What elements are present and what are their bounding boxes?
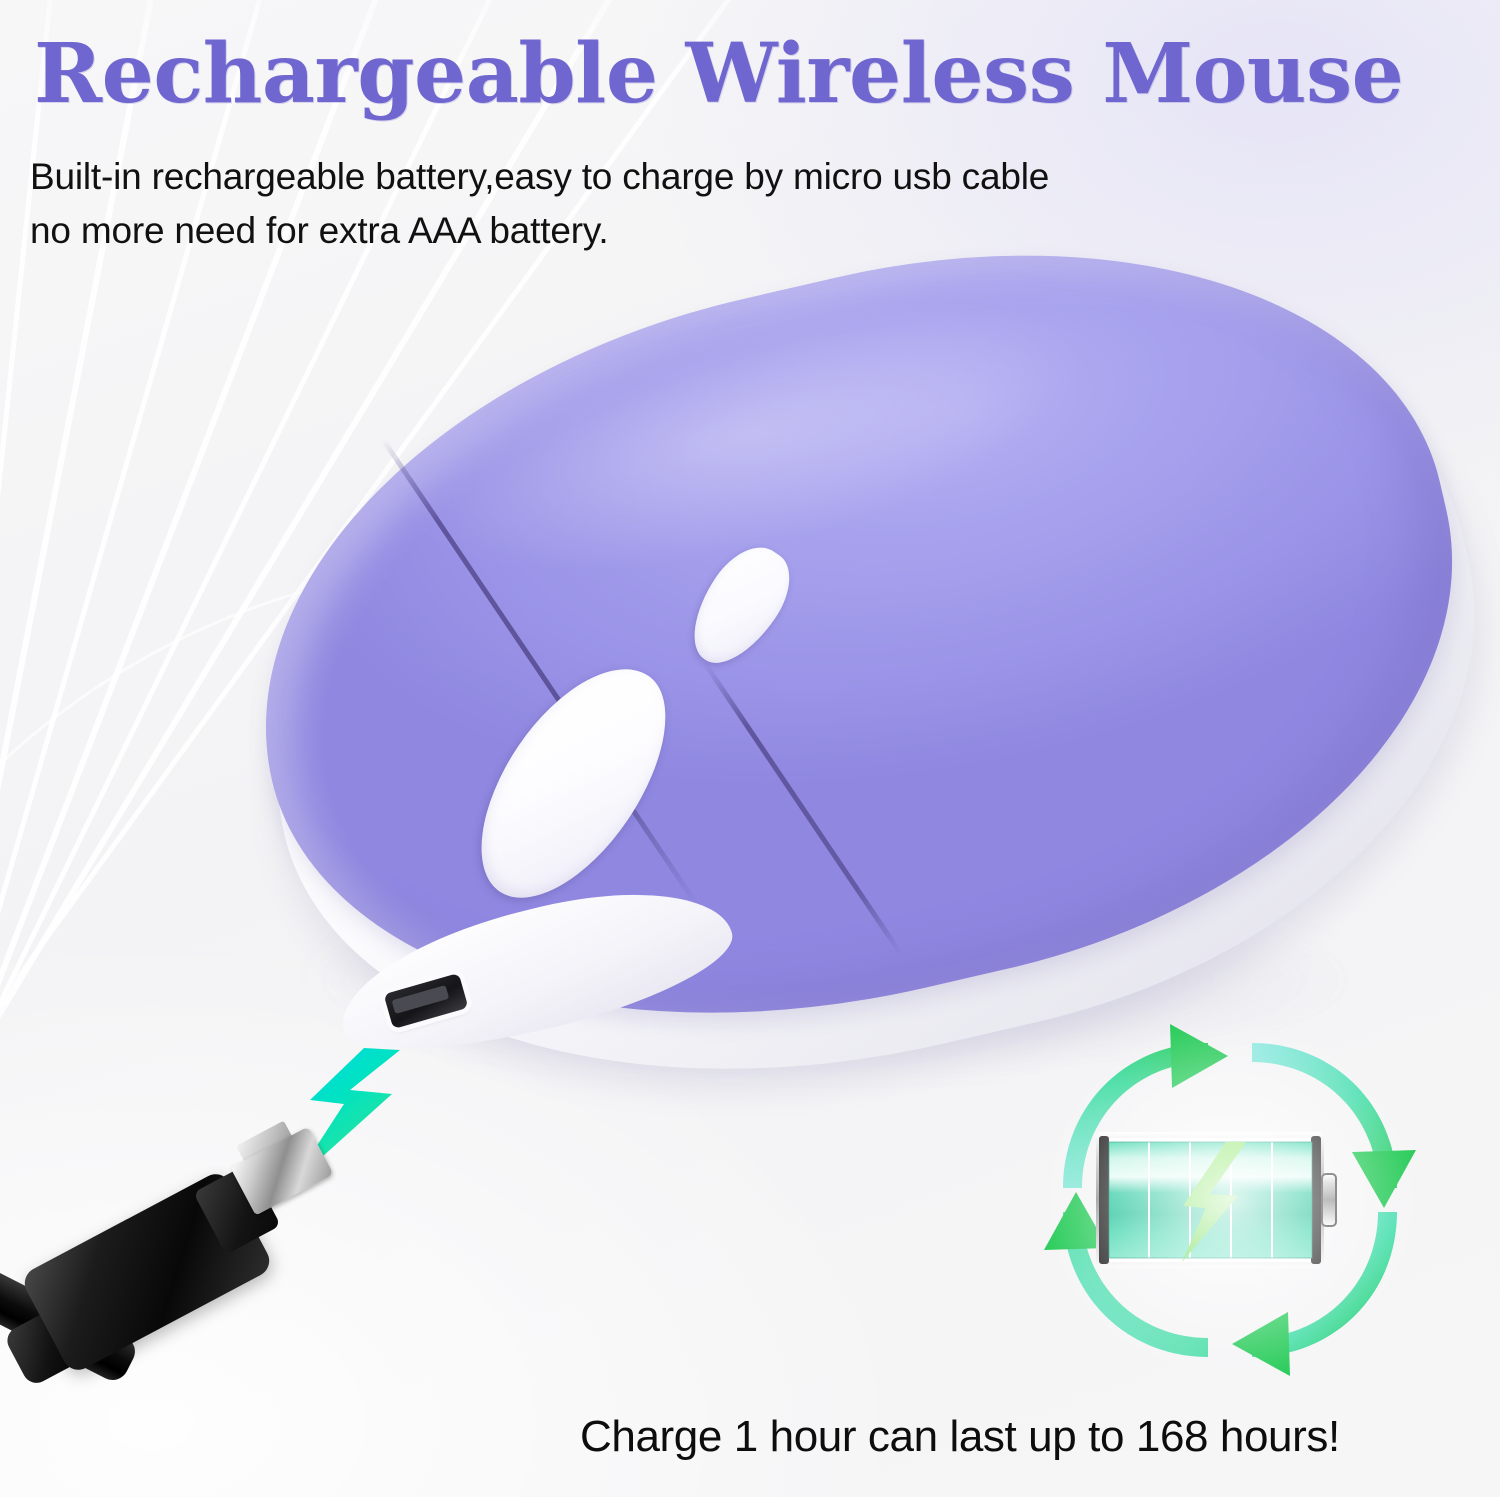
footer-caption: Charge 1 hour can last up to 168 hours!: [580, 1412, 1340, 1462]
icon-glow: [1030, 1010, 1430, 1390]
subtitle: Built-in rechargeable battery,easy to ch…: [30, 150, 1290, 258]
subtitle-line-1: Built-in rechargeable battery,easy to ch…: [30, 156, 1049, 197]
product-marketing-image: Rechargeable Wireless Mouse Built-in rec…: [0, 0, 1500, 1497]
micro-usb-cable: [0, 1130, 390, 1497]
page-title: Rechargeable Wireless Mouse: [34, 26, 1403, 122]
subtitle-line-2: no more need for extra AAA battery.: [30, 204, 1290, 258]
micro-usb-port-inner: [392, 985, 450, 1014]
rechargeable-battery-icon: [1030, 1010, 1430, 1390]
wireless-mouse-image: [245, 270, 1500, 1090]
